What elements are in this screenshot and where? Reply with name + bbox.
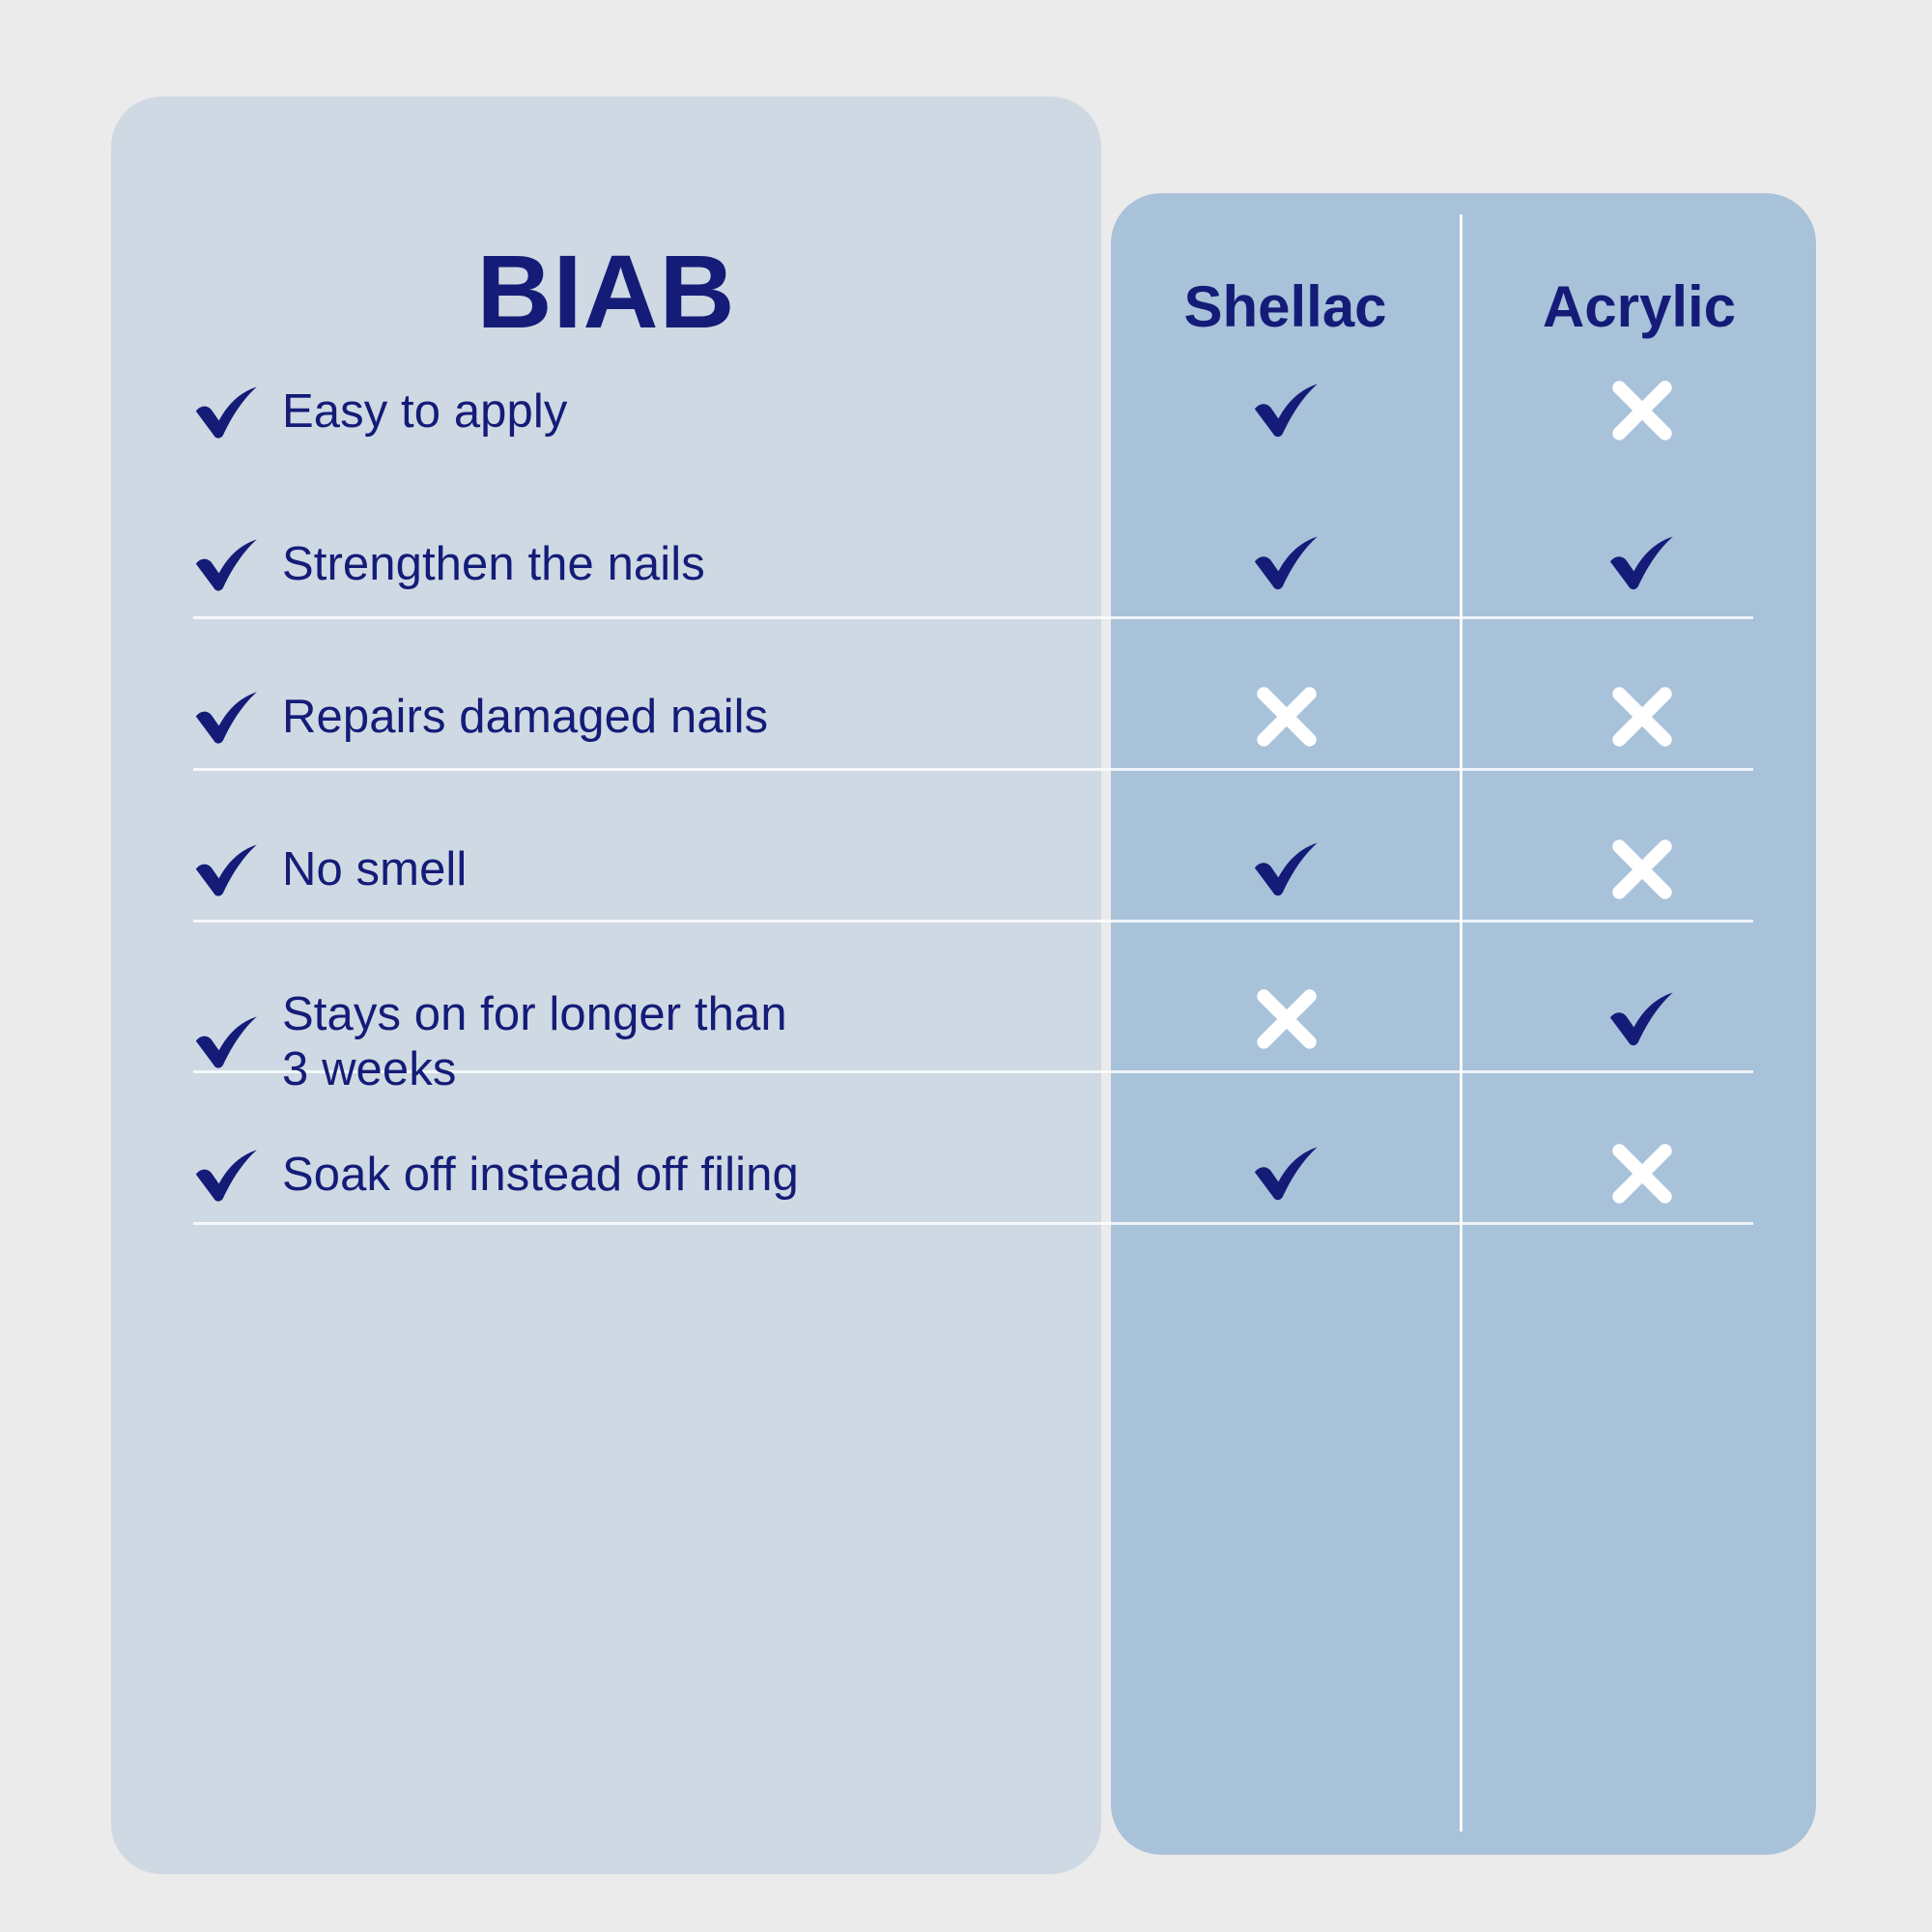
- check-icon: [193, 538, 282, 592]
- check-icon: [193, 385, 282, 440]
- check-icon-shellac: [1190, 510, 1383, 616]
- cross-icon-acrylic: [1546, 1121, 1739, 1227]
- check-icon: [193, 691, 282, 745]
- feature-row: Repairs damaged nails: [193, 690, 768, 745]
- feature-label: Stays on for longer than 3 weeks: [282, 987, 787, 1098]
- check-icon: [193, 1149, 282, 1203]
- feature-row: Soak off instead off filing: [193, 1148, 799, 1203]
- row-separator: [193, 920, 1753, 923]
- row-separator: [193, 768, 1753, 771]
- cross-icon-acrylic: [1546, 664, 1739, 770]
- cross-icon-shellac: [1190, 664, 1383, 770]
- row-separator: [193, 1222, 1753, 1225]
- column-header-acrylic: Acrylic: [1463, 278, 1816, 336]
- cross-icon-shellac: [1190, 966, 1383, 1072]
- feature-row: Strengthen the nails: [193, 537, 705, 592]
- check-icon-shellac: [1190, 1121, 1383, 1227]
- column-header-shellac: Shellac: [1111, 278, 1460, 336]
- check-icon-acrylic: [1546, 510, 1739, 616]
- row-separator: [193, 616, 1753, 619]
- feature-label: Repairs damaged nails: [282, 690, 768, 745]
- feature-row: No smell: [193, 842, 467, 897]
- check-icon: [193, 843, 282, 897]
- feature-label: No smell: [282, 842, 467, 897]
- page-title: BIAB: [111, 240, 1101, 344]
- feature-row: Easy to apply: [193, 384, 567, 440]
- feature-label: Easy to apply: [282, 384, 567, 440]
- feature-row: Stays on for longer than 3 weeks: [193, 987, 787, 1098]
- cross-icon-acrylic: [1546, 357, 1739, 464]
- check-icon: [193, 1015, 282, 1069]
- check-icon-shellac: [1190, 816, 1383, 923]
- check-icon-acrylic: [1546, 966, 1739, 1072]
- check-icon-shellac: [1190, 357, 1383, 464]
- infographic-canvas: BIAB Shellac Acrylic Easy to apply Stren…: [0, 0, 1932, 1932]
- feature-label: Soak off instead off filing: [282, 1148, 799, 1203]
- cross-icon-acrylic: [1546, 816, 1739, 923]
- feature-label: Strengthen the nails: [282, 537, 705, 592]
